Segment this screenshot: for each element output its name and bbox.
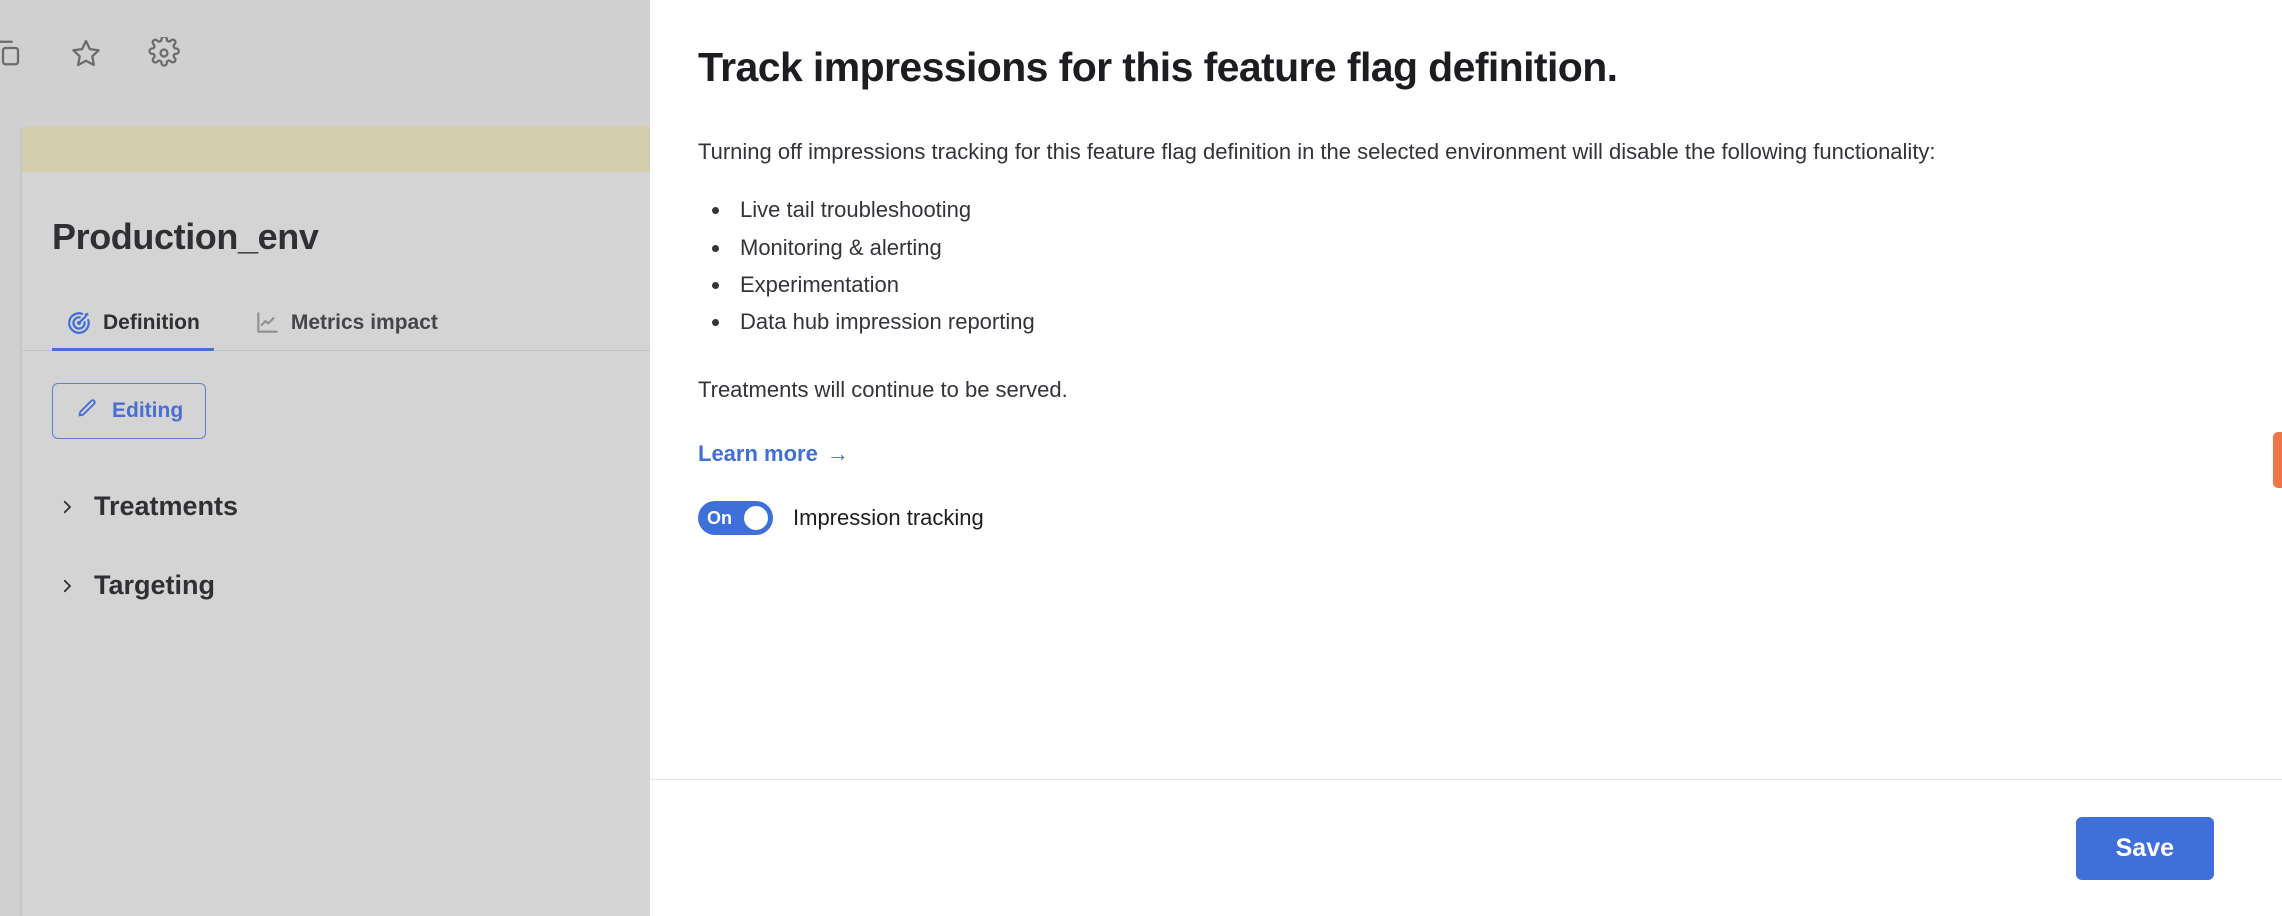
editing-button-label: Editing — [112, 399, 183, 423]
sidebar-section-targeting-label: Targeting — [94, 570, 215, 601]
gear-icon[interactable] — [144, 33, 184, 73]
pencil-icon — [75, 396, 99, 426]
feedback-edge-tab[interactable] — [2273, 432, 2282, 488]
card-accent-band — [22, 126, 682, 172]
target-icon — [66, 310, 92, 336]
list-item: Live tail troubleshooting — [732, 191, 2222, 228]
sidebar-section-treatments-label: Treatments — [94, 491, 238, 522]
tab-metrics-impact-label: Metrics impact — [291, 311, 438, 335]
learn-more-link[interactable]: Learn more → — [698, 441, 849, 467]
tab-definition-label: Definition — [103, 311, 200, 335]
impression-tracking-toggle[interactable]: On — [698, 501, 773, 535]
modal-title: Track impressions for this feature flag … — [698, 44, 2222, 91]
duplicate-icon[interactable] — [0, 33, 28, 73]
list-item: Data hub impression reporting — [732, 303, 2222, 340]
environment-detail-card: Production_env Definition — [22, 126, 682, 916]
star-icon[interactable] — [66, 33, 106, 73]
modal-footer: Save — [650, 780, 2282, 916]
chevron-right-icon — [58, 496, 76, 518]
arrow-right-icon: → — [827, 441, 849, 467]
impression-tracking-label: Impression tracking — [793, 505, 984, 531]
top-toolbar — [0, 0, 650, 105]
tab-metrics-impact[interactable]: Metrics impact — [240, 310, 452, 350]
impression-tracking-row: On Impression tracking — [698, 501, 2222, 535]
impression-tracking-modal: Track impressions for this feature flag … — [650, 0, 2282, 916]
app-root: Production_env Definition — [0, 0, 2282, 916]
list-item: Experimentation — [732, 266, 2222, 303]
modal-content: Track impressions for this feature flag … — [650, 0, 2282, 535]
treatments-note: Treatments will continue to be served. — [698, 377, 2222, 403]
tab-definition[interactable]: Definition — [52, 310, 214, 350]
disabled-functionality-list: Live tail troubleshooting Monitoring & a… — [698, 191, 2222, 341]
page-title: Production_env — [22, 172, 682, 258]
learn-more-label: Learn more — [698, 441, 818, 467]
line-chart-icon — [254, 310, 280, 336]
save-button[interactable]: Save — [2076, 817, 2214, 880]
toggle-state-label: On — [707, 509, 732, 527]
list-item: Monitoring & alerting — [732, 229, 2222, 266]
toggle-knob — [744, 506, 768, 530]
chevron-right-icon — [58, 575, 76, 597]
modal-description: Turning off impressions tracking for thi… — [698, 135, 2198, 169]
tab-bar: Definition Metrics impact — [22, 280, 682, 351]
background-app-backdrop: Production_env Definition — [0, 0, 650, 916]
sidebar-section-targeting[interactable]: Targeting — [22, 570, 682, 601]
sidebar-section-treatments[interactable]: Treatments — [22, 491, 682, 522]
editing-button[interactable]: Editing — [52, 383, 206, 439]
